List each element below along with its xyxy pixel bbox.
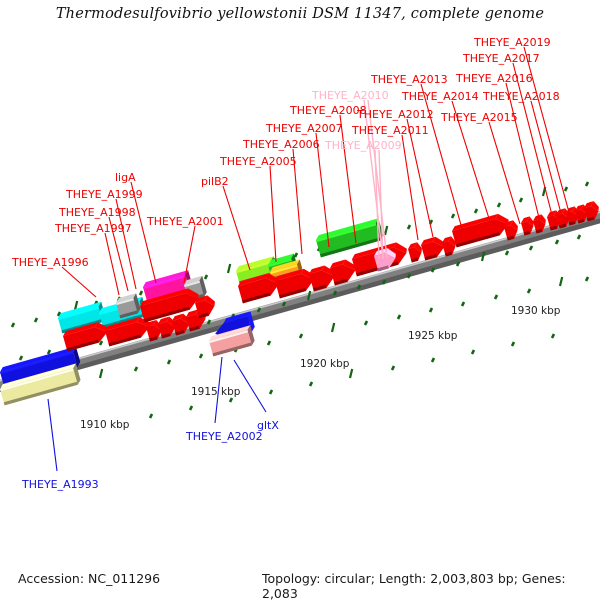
- genome-summary-text: Topology: circular; Length: 2,003,803 bp…: [262, 571, 600, 601]
- gene-label-theye_a2013[interactable]: THEYE_A2013: [371, 73, 448, 86]
- gene-label-theye_a2010[interactable]: THEYE_A2010: [312, 89, 389, 102]
- gene-label-theye_a2002[interactable]: THEYE_A2002: [186, 430, 263, 443]
- gene-label-theye_a2006[interactable]: THEYE_A2006: [243, 138, 320, 151]
- gene-label-theye_a2018[interactable]: THEYE_A2018: [483, 90, 560, 103]
- gene-label-theye_a2017[interactable]: THEYE_A2017: [463, 52, 540, 65]
- gene-label-liga[interactable]: ligA: [115, 171, 136, 184]
- genome-map-viewer: Thermodesulfovibrio yellowstonii DSM 113…: [0, 0, 600, 600]
- gene-label-theye_a2011[interactable]: THEYE_A2011: [352, 124, 429, 137]
- ruler-tick-label: 1910 kbp: [80, 419, 129, 431]
- ruler-tick-label: 1930 kbp: [511, 305, 560, 317]
- ruler-tick-label: 1915 kbp: [191, 386, 240, 398]
- gene-label-theye_a1993[interactable]: THEYE_A1993: [22, 478, 99, 491]
- gene-label-theye_a2016[interactable]: THEYE_A2016: [456, 72, 533, 85]
- gene-label-theye_a1997[interactable]: THEYE_A1997: [55, 222, 132, 235]
- accession-text: Accession: NC_011296: [18, 571, 160, 586]
- gene-label-theye_a2012[interactable]: THEYE_A2012: [357, 108, 434, 121]
- gene-label-theye_a2007[interactable]: THEYE_A2007: [266, 122, 343, 135]
- gene-label-gltx[interactable]: gltX: [257, 419, 279, 432]
- gene-label-theye_a2015[interactable]: THEYE_A2015: [441, 111, 518, 124]
- gene-label-theye_a2005[interactable]: THEYE_A2005: [220, 155, 297, 168]
- gene-label-pilb2[interactable]: pilB2: [201, 175, 229, 188]
- gene-label-theye_a2001[interactable]: THEYE_A2001: [147, 215, 224, 228]
- gene-label-theye_a2014[interactable]: THEYE_A2014: [402, 90, 479, 103]
- gene-label-theye_a2008[interactable]: THEYE_A2008: [290, 104, 367, 117]
- gene-label-theye_a2019[interactable]: THEYE_A2019: [474, 36, 551, 49]
- ruler-tick-label: 1925 kbp: [408, 330, 457, 342]
- gene-label-theye_a2009[interactable]: THEYE_A2009: [325, 139, 402, 152]
- gene-label-theye_a1996[interactable]: THEYE_A1996: [12, 256, 89, 269]
- gene-label-theye_a1998[interactable]: THEYE_A1998: [59, 206, 136, 219]
- gene-label-theye_a1999[interactable]: THEYE_A1999: [66, 188, 143, 201]
- ruler-tick-label: 1920 kbp: [300, 358, 349, 370]
